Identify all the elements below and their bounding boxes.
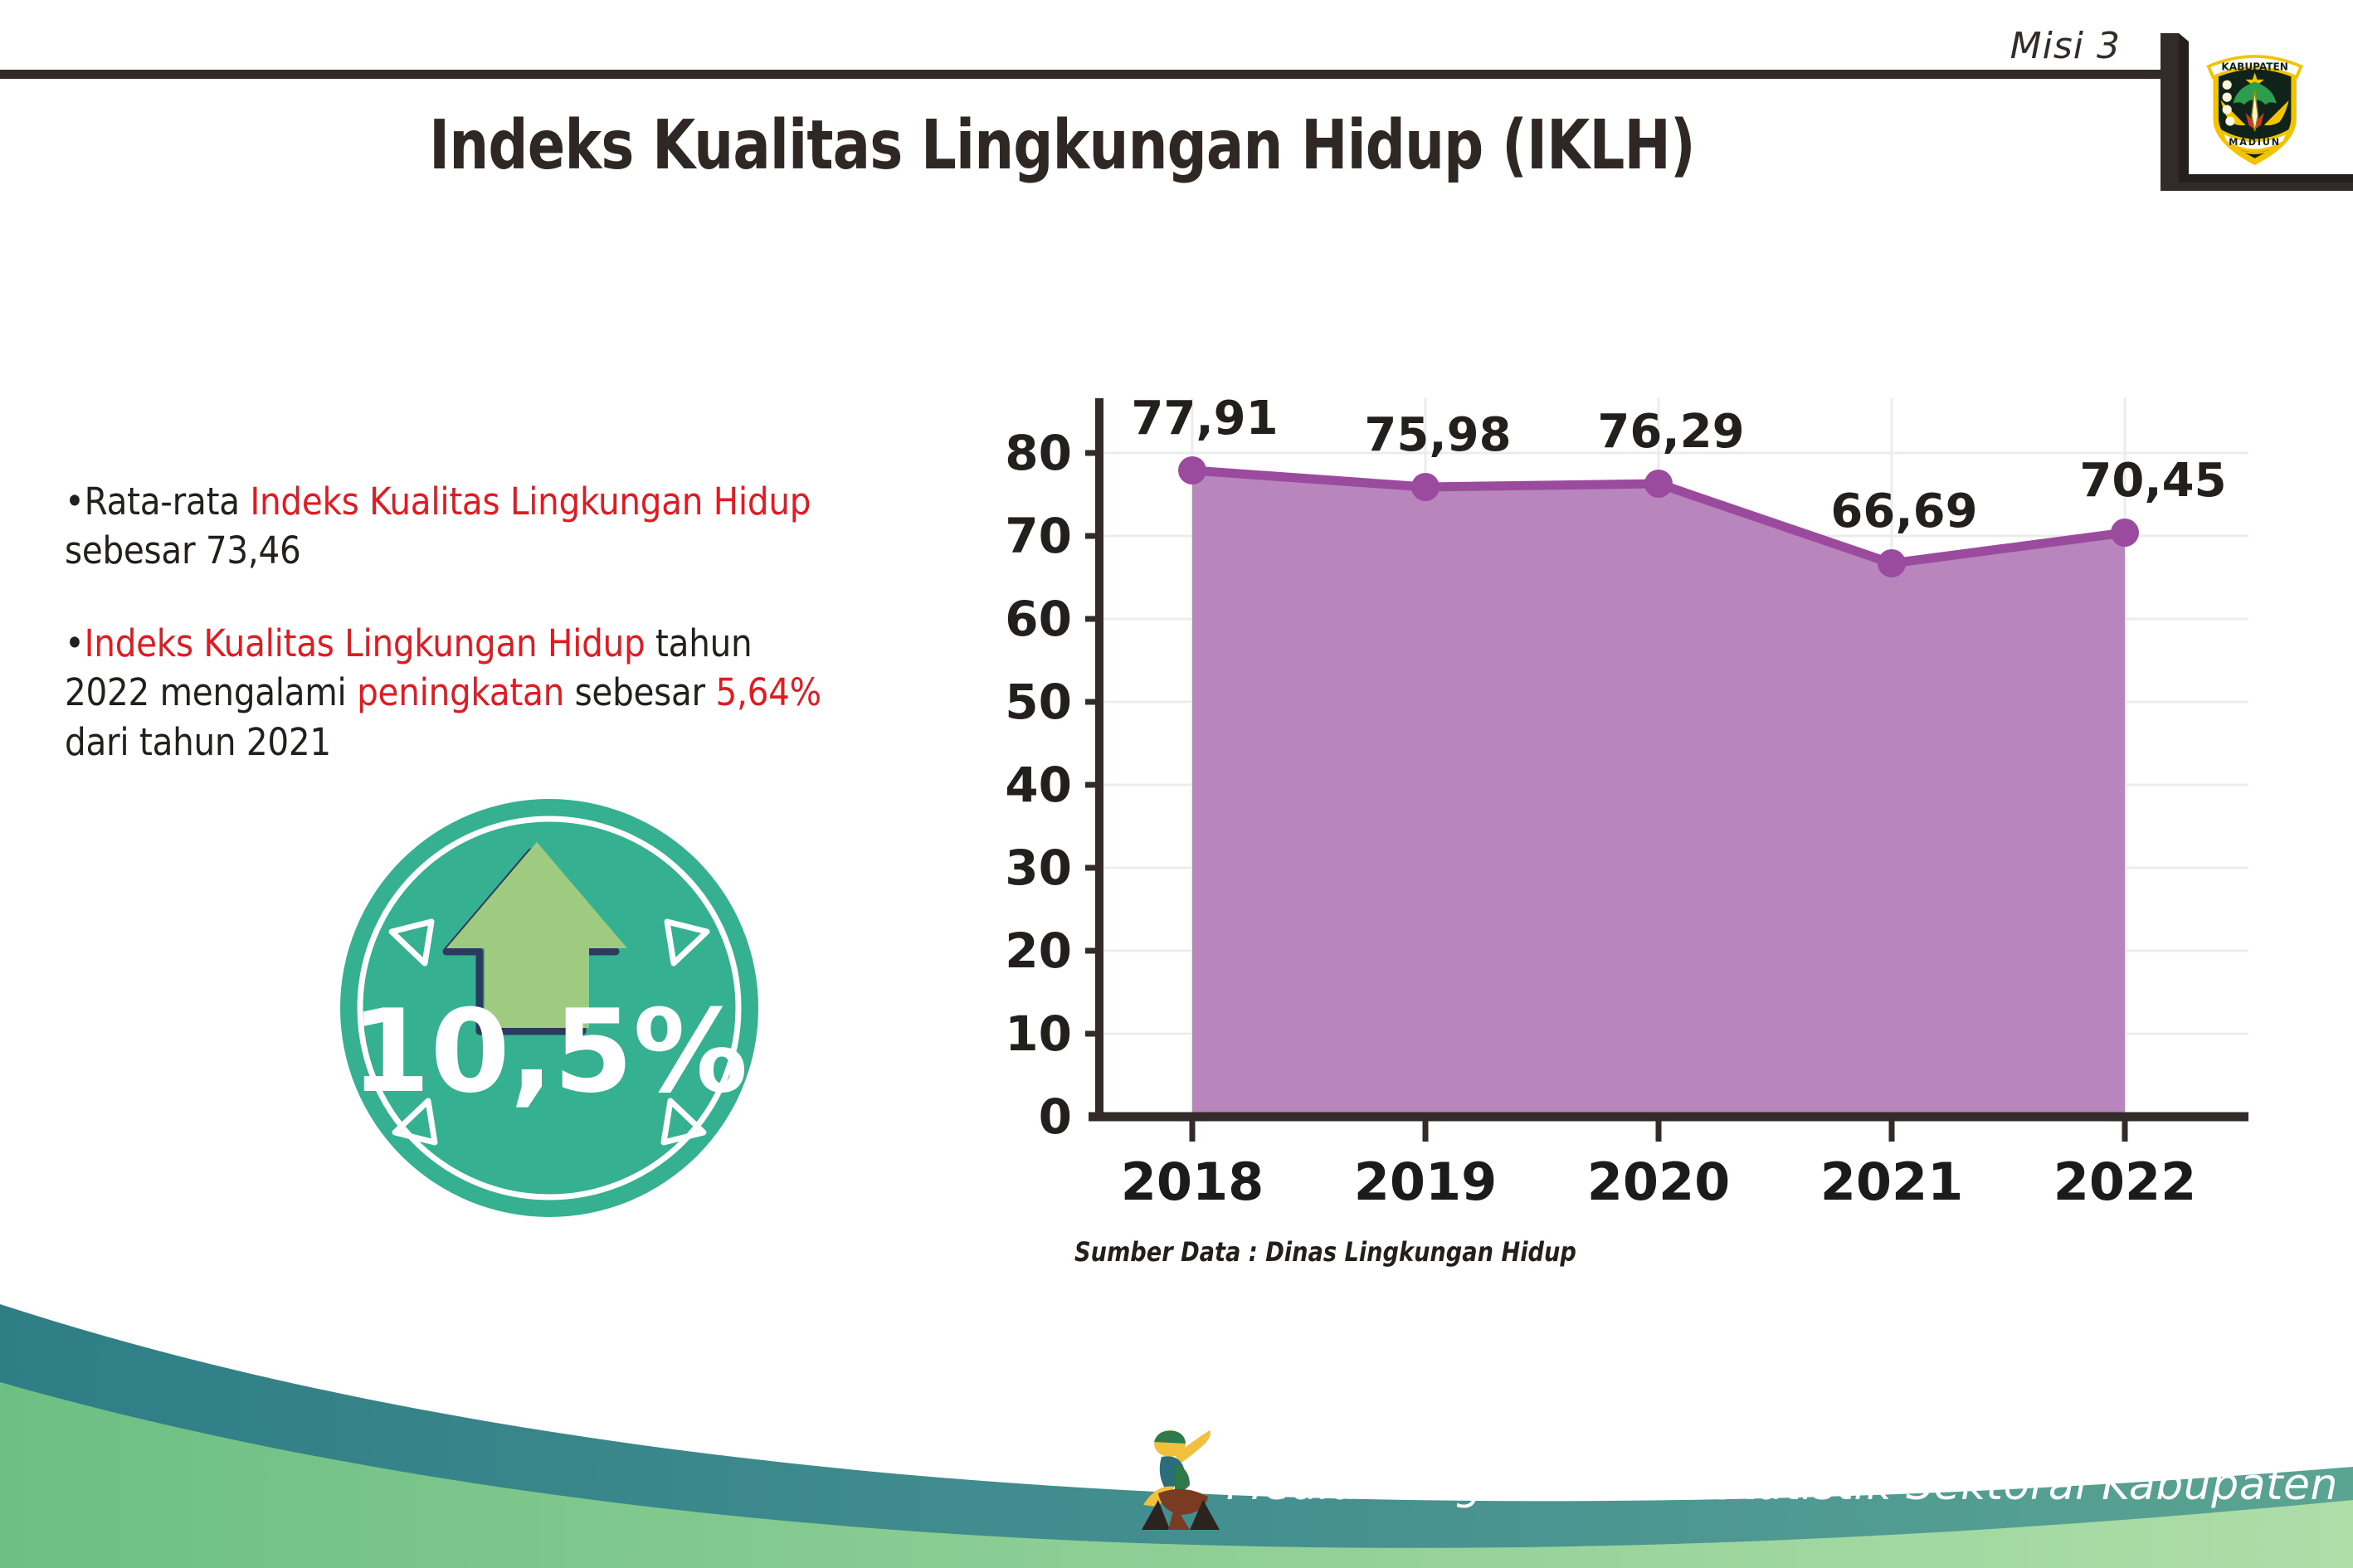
infographic-slide: Misi 3 KABUPATEN xyxy=(0,0,2353,1568)
x-tick-label: 2022 xyxy=(2053,1152,2197,1211)
footer-text: Media Infografis Data Statistik Sektoral… xyxy=(1226,1460,2353,1510)
value-label-2019: 75,98 xyxy=(1364,408,1511,462)
value-label-2018: 77,91 xyxy=(1131,392,1278,446)
bullet-1-text-plain-1: Rata-rata xyxy=(85,480,251,523)
y-tick-label: 80 xyxy=(1005,425,1072,481)
growth-badge: 10,5% xyxy=(309,743,790,1224)
x-tick-label: 2018 xyxy=(1121,1152,1264,1211)
value-label-2020: 76,29 xyxy=(1597,405,1744,459)
bullet-1-text-highlight-1: Indeks Kualitas Lingkungan Hidup xyxy=(250,480,811,523)
logo-top-text: KABUPATEN xyxy=(2221,61,2287,73)
insight-bullet-1: •Rata-rata Indeks Kualitas Lingkungan Hi… xyxy=(65,477,826,576)
logo-bottom-text: MADIUN xyxy=(2229,137,2281,148)
x-tick-label: 2021 xyxy=(1820,1152,1964,1211)
bullet-2-text-plain-3: dari tahun 2021 xyxy=(65,720,331,764)
y-tick-label: 20 xyxy=(1005,923,1072,979)
y-tick-label: 50 xyxy=(1005,674,1072,730)
badge-value: 10,5% xyxy=(351,985,748,1118)
bullet-2-text-highlight-2: peningkatan xyxy=(357,670,564,714)
value-label-2021: 66,69 xyxy=(1830,485,1977,538)
misi-label: Misi 3 xyxy=(2010,25,2121,67)
y-tick-label: 10 xyxy=(1005,1006,1072,1062)
chart-x-tick-labels: 2018 2019 2020 2021 2022 xyxy=(1121,1152,2197,1211)
data-point-2019 xyxy=(1411,473,1440,501)
bullet-2-text-highlight-3: 5,64% xyxy=(716,670,821,714)
x-tick-label: 2019 xyxy=(1354,1152,1498,1211)
data-point-2020 xyxy=(1644,470,1673,498)
x-tick-label: 2020 xyxy=(1587,1152,1731,1211)
header-rule xyxy=(0,70,2181,79)
y-tick-label: 60 xyxy=(1005,591,1072,647)
page-title: Indeks Kualitas Lingkungan Hidup (IKLH) xyxy=(191,106,1932,185)
dancer-figure-icon xyxy=(1138,1425,1228,1535)
value-label-2022: 70,45 xyxy=(2079,454,2226,508)
bullet-1-text-plain-2: sebesar 73,46 xyxy=(65,528,301,572)
y-tick-label: 0 xyxy=(1039,1088,1072,1145)
data-point-2018 xyxy=(1178,456,1206,485)
data-point-2022 xyxy=(2111,519,2139,547)
y-tick-label: 70 xyxy=(1005,508,1072,564)
bullet-2-text-plain-2: sebesar xyxy=(564,670,716,714)
iklh-area-chart: 80 70 60 50 40 30 20 10 0 2018 2019 2020… xyxy=(979,282,2273,1211)
bullet-marker: • xyxy=(65,480,85,523)
y-tick-label: 30 xyxy=(1005,840,1072,896)
bullet-2-text-highlight-1: Indeks Kualitas Lingkungan Hidup xyxy=(85,621,645,665)
chart-y-tick-labels: 80 70 60 50 40 30 20 10 0 xyxy=(1005,425,1072,1145)
logo-bracket-frame: KABUPATEN MADIUN xyxy=(2161,33,2353,191)
bullet-marker: • xyxy=(65,621,85,665)
data-point-2021 xyxy=(1878,549,1906,577)
source-note: Sumber Data : Dinas Lingkungan Hidup xyxy=(1074,1236,1576,1268)
y-tick-label: 40 xyxy=(1005,757,1072,813)
chart-area-fill xyxy=(1192,470,2125,1117)
